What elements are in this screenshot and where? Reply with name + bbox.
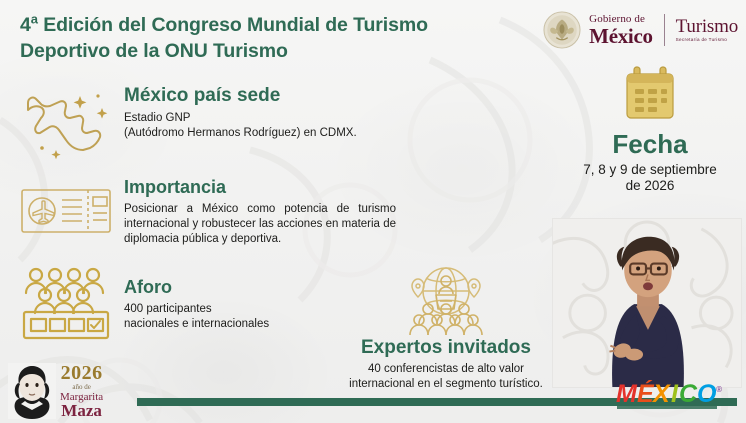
secretaria-de-turismo-label: Secretaría de Turismo: [676, 38, 738, 43]
calendar-icon: [618, 62, 682, 124]
block-aforo-heading: Aforo: [124, 278, 269, 298]
block-importancia: Importancia Posicionar a México como pot…: [14, 180, 424, 247]
svg-text:M: M: [616, 380, 638, 408]
presentation-slide: 4a Edición del Congreso Mundial de Turis…: [0, 0, 746, 423]
margarita-surname: Maza: [61, 403, 102, 419]
margarita-maza-portrait: [8, 363, 56, 419]
title-ordinal-number: 4: [20, 14, 31, 36]
block-aforo-body-line2: nacionales e internacionales: [124, 318, 269, 330]
block-importancia-body: Posicionar a México como potencia de tur…: [124, 202, 396, 248]
block-fecha-body: 7, 8 y 9 de septiembre de 2026: [583, 162, 717, 196]
gobierno-de-label: Gobierno de: [589, 14, 653, 25]
title-line1: Edición del Congreso Mundial de Turismo: [38, 14, 428, 36]
secretaria-turismo-wordmark: Turismo Secretaría de Turismo: [676, 17, 738, 43]
mexico-map-icon: [14, 80, 118, 166]
block-aforo-body: 400 participantes nacionales e internaci…: [124, 302, 269, 332]
slide-title: 4a Edición del Congreso Mundial de Turis…: [20, 12, 520, 64]
globe-podium-audience-icon: [398, 264, 494, 336]
block-fecha-body-line2: de 2026: [626, 178, 675, 193]
margarita-year: 2026: [61, 363, 103, 383]
logo-divider: [664, 14, 665, 46]
block-aforo-text: Aforo 400 participantes nacionales e int…: [124, 262, 269, 332]
margarita-maza-2026-logo: 2026 año de Margarita Maza: [8, 362, 140, 420]
interpreter-person: [553, 219, 741, 387]
mexican-eagle-seal-icon: [543, 11, 581, 49]
block-fecha-heading: Fecha: [583, 130, 717, 159]
block-fecha-body-line1: 7, 8 y 9 de septiembre: [583, 162, 717, 177]
block-sede-heading: México país sede: [124, 86, 357, 107]
svg-text:C: C: [679, 380, 698, 408]
boarding-pass-icon: [14, 180, 118, 242]
block-importancia-heading: Importancia: [124, 178, 396, 198]
mexico-label: México: [589, 26, 653, 47]
sign-language-interpreter-video[interactable]: [552, 218, 742, 388]
margarita-anio-de: año de: [72, 384, 90, 391]
gobierno-de-mexico-logo: Gobierno de México Turismo Secretaría de…: [543, 8, 738, 52]
block-fecha: Fecha 7, 8 y 9 de septiembre de 2026: [560, 62, 740, 195]
block-aforo-body-line1: 400 participantes: [124, 303, 212, 315]
svg-text:X: X: [651, 380, 671, 408]
mexico-brand-logo: M É X I C O ®: [615, 380, 735, 414]
block-expertos-body-line1: 40 conferencistas de alto valor: [368, 363, 524, 375]
gobierno-wordmark: Gobierno de México: [589, 14, 653, 47]
block-expertos-heading: Expertos invitados: [349, 338, 543, 359]
block-expertos-body: 40 conferencistas de alto valor internac…: [349, 362, 543, 392]
title-ordinal-suffix: a: [31, 12, 38, 27]
svg-text:O: O: [697, 380, 717, 408]
block-sede-body-line2: (Autódromo Hermanos Rodríguez) en CDMX.: [124, 127, 357, 139]
margarita-maza-wordmark: 2026 año de Margarita Maza: [60, 363, 103, 419]
block-expertos-text: Expertos invitados 40 conferencistas de …: [349, 336, 543, 392]
block-fecha-text: Fecha 7, 8 y 9 de septiembre de 2026: [583, 124, 717, 195]
title-line2: Deportivo de la ONU Turismo: [20, 40, 288, 62]
svg-text:I: I: [671, 380, 679, 408]
block-expertos-body-line2: internacional en el segmento turístico.: [349, 378, 543, 390]
block-aforo: Aforo 400 participantes nacionales e int…: [14, 262, 344, 346]
block-importancia-text: Importancia Posicionar a México como pot…: [124, 180, 396, 247]
turismo-label: Turismo: [676, 17, 738, 36]
svg-text:®: ®: [716, 385, 722, 394]
audience-ticket-icon: [14, 262, 118, 346]
block-mexico-pais-sede: México país sede Estadio GNP (Autódromo …: [14, 80, 414, 166]
block-sede-body-line1: Estadio GNP: [124, 112, 190, 124]
block-sede-text: México país sede Estadio GNP (Autódromo …: [124, 80, 357, 141]
block-sede-body: Estadio GNP (Autódromo Hermanos Rodrígue…: [124, 111, 357, 141]
block-expertos-invitados: Expertos invitados 40 conferencistas de …: [330, 264, 562, 392]
